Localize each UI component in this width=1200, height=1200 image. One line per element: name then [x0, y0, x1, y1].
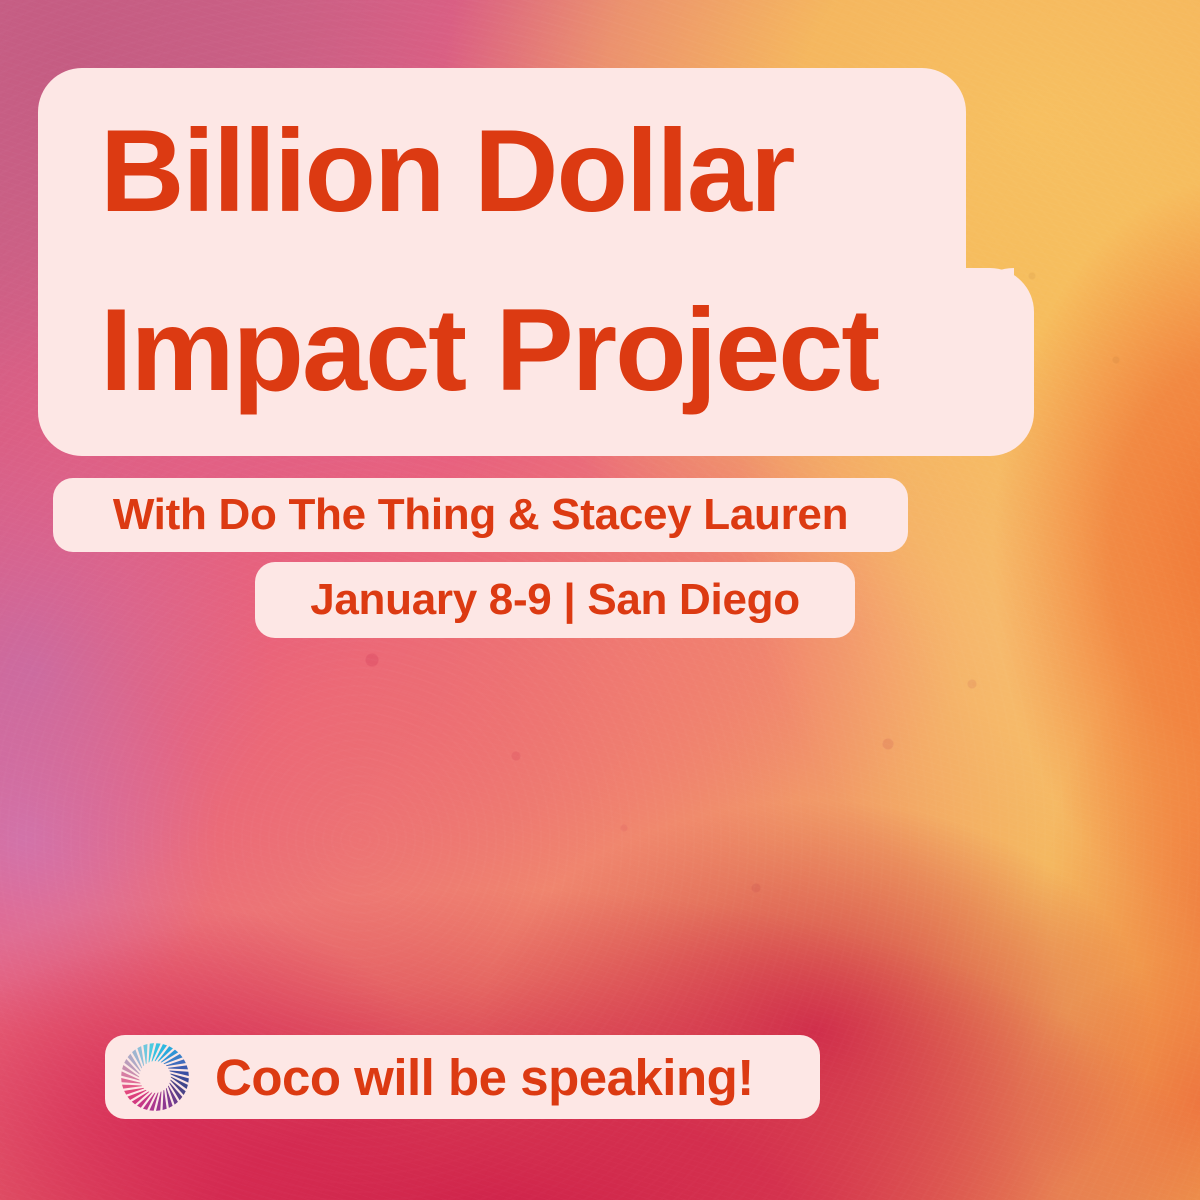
page-title: Billion Dollar Impact Project: [38, 68, 1034, 456]
speaker-announcement-label: Coco will be speaking!: [215, 1048, 754, 1107]
speaker-announcement-badge: Coco will be speaking!: [105, 1035, 820, 1119]
title-line-1: Billion Dollar: [38, 68, 966, 268]
presenters-card: With Do The Thing & Stacey Lauren: [53, 478, 908, 552]
event-poster: Billion Dollar Impact Project With Do Th…: [0, 0, 1200, 1200]
radial-burst-circle-logo-icon: [119, 1041, 191, 1113]
date-location-card: January 8-9 | San Diego: [255, 562, 855, 638]
title-line-2: Impact Project: [38, 268, 1034, 456]
